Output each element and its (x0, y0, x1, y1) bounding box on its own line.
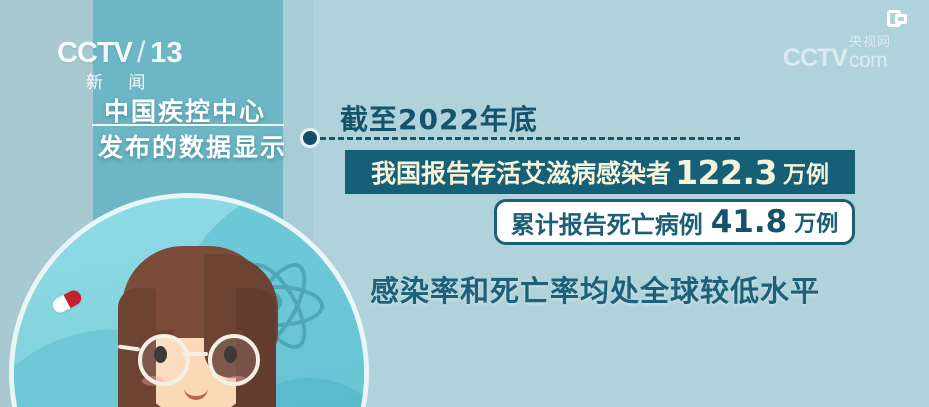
headline-date: 截至2022年底 (340, 98, 538, 138)
primary-stat-label: 我国报告存活艾滋病感染者 (371, 154, 671, 190)
watermark-tld: com (849, 50, 887, 71)
cctv13-logo: CCTV / 13 (57, 36, 183, 70)
doctor-illustration (14, 198, 364, 407)
broadcast-news-graphic: CCTV / 13 新 闻 中国疾控中心 发布的数据显示 截至2022年底 我国… (0, 0, 929, 407)
source-line-2: 发布的数据显示 (98, 128, 287, 164)
conclusion-text: 感染率和死亡率均处全球较低水平 (370, 268, 820, 310)
cctv-com-watermark: CCTV 央视网 com (783, 36, 891, 71)
connector-dot (303, 131, 317, 145)
picture-in-picture-icon[interactable] (887, 10, 907, 27)
primary-stat-banner: 我国报告存活艾滋病感染者 122.3 万例 (345, 150, 855, 194)
illustration-circle (14, 198, 364, 407)
primary-stat-value: 122.3 (675, 153, 777, 192)
watermark-chinese: 央视网 (849, 36, 891, 49)
doctor-figure (96, 226, 296, 407)
cctv-channel-subtitle: 新 闻 (86, 68, 155, 93)
cctv-wordmark: CCTV (57, 37, 132, 70)
cctv-channel-number: 13 (150, 37, 182, 70)
primary-stat-unit: 万例 (783, 155, 829, 189)
source-line-1: 中国疾控中心 (104, 92, 266, 128)
cctv-logo-slash: / (137, 36, 145, 70)
secondary-stat-value: 41.8 (711, 204, 788, 240)
source-divider (92, 124, 284, 126)
secondary-stat-label: 累计报告死亡病例 (511, 205, 703, 240)
secondary-stat-banner: 累计报告死亡病例 41.8 万例 (494, 199, 855, 245)
watermark-brand: CCTV (783, 46, 847, 71)
secondary-stat-unit: 万例 (794, 206, 838, 238)
